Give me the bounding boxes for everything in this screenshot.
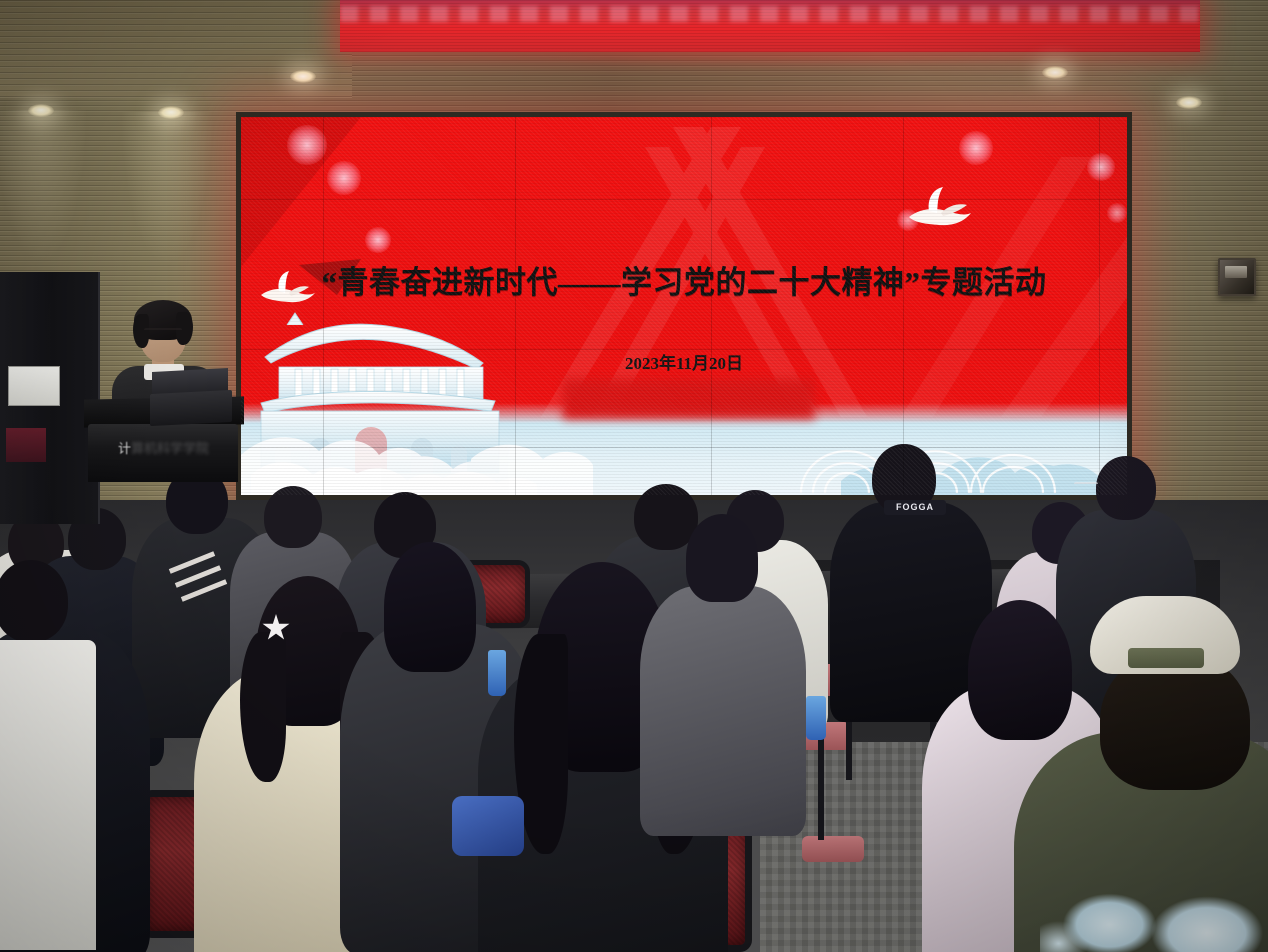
- wall-speaker-icon: [1218, 258, 1256, 296]
- panel-seam: [241, 447, 1127, 448]
- chair-seat-pad: [802, 836, 864, 862]
- obscured-text-block: [563, 379, 815, 419]
- light-spill: [122, 112, 212, 262]
- bokeh-light: [959, 131, 993, 165]
- podium-label-obscured: 算机科学学院: [131, 441, 209, 456]
- screen-date: 2023年11月20日: [241, 349, 1127, 374]
- panel-seam: [515, 117, 516, 495]
- bokeh-light: [327, 161, 361, 195]
- downlight-icon: [1042, 66, 1068, 79]
- screen-title: “青春奋进新时代——学习党的二十大精神”专题活动: [241, 257, 1127, 302]
- glasses-icon: [144, 328, 182, 337]
- bokeh-light: [287, 125, 327, 165]
- podium-label-visible: 计: [118, 441, 131, 456]
- water-bottle: [806, 696, 826, 740]
- podium: 计算机科学学院: [88, 424, 238, 482]
- rack-indicator: [6, 428, 46, 462]
- podium-label: 计算机科学学院: [88, 438, 238, 457]
- panel-seam: [241, 199, 1127, 200]
- panel-seam: [241, 349, 1127, 350]
- cap-band: [1128, 648, 1204, 668]
- rack-label: [8, 366, 60, 406]
- light-spill: [0, 110, 86, 260]
- panel-seam: [711, 117, 712, 495]
- panel-seam: [323, 117, 324, 495]
- glasses-icon: [1074, 482, 1098, 489]
- backpack: [452, 796, 524, 856]
- jacket-splash-print: [1040, 852, 1268, 952]
- white-coat: [0, 640, 96, 950]
- downlight-icon: [1176, 96, 1202, 109]
- jacket-text: FOGGA: [884, 500, 946, 515]
- led-scrolling-banner: [340, 0, 1200, 52]
- laptop: [150, 390, 232, 426]
- led-screen-surface: “青春奋进新时代——学习党的二十大精神”专题活动 2023年11月20日: [241, 117, 1127, 495]
- water-bottle: [488, 650, 506, 696]
- lecture-hall-photo: “青春奋进新时代——学习党的二十大精神”专题活动 2023年11月20日 计算机…: [0, 0, 1268, 952]
- downlight-icon: [290, 70, 316, 83]
- ceiling-panel: [0, 0, 352, 98]
- bokeh-light: [1107, 203, 1127, 223]
- panel-seam: [1099, 117, 1100, 495]
- bokeh-light: [1087, 153, 1115, 181]
- dove-icon: [901, 185, 975, 233]
- panel-seam: [903, 117, 904, 495]
- led-screen: “青春奋进新时代——学习党的二十大精神”专题活动 2023年11月20日: [236, 112, 1132, 500]
- bokeh-light: [365, 227, 391, 253]
